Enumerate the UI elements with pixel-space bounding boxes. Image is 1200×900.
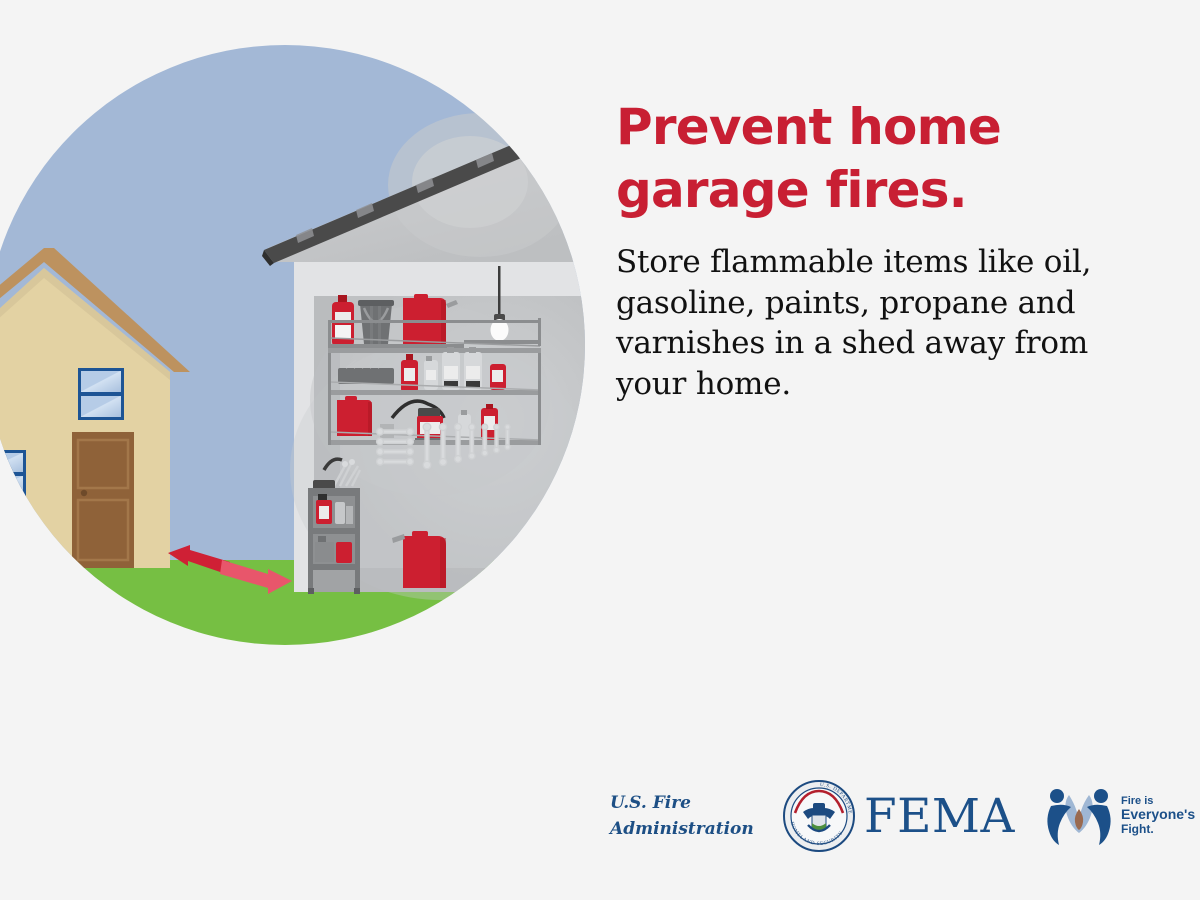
gas-can-shelf3-shade [368,402,372,436]
floor-gas-can-shade [440,538,446,588]
fire-is-everyones-fight-logo: Fire is Everyone's Fight. [1043,785,1195,847]
bucket-stripe-2 [378,306,381,344]
seal-eagle-head [813,803,825,813]
gas-can-shelf3-cap [345,396,357,401]
shelf-rail-1a [330,344,464,348]
feef-head-left [1050,789,1064,803]
cart-grey-can-neck [318,536,326,542]
cart-red-bottle-label [319,506,329,519]
garage-illustration [0,0,600,700]
solvent-bottle-2-cap [469,347,476,353]
lower-window-glass-bottom [0,476,23,495]
red-bottle-label [404,368,415,381]
solvent-bottle-1-cap [447,347,454,353]
page-subtitle: Store flammable items like oil, gasoline… [616,222,1161,404]
clear-bottle-1-label [426,370,436,380]
upper-window-glass-bottom [81,396,121,417]
floor-gas-can-body [403,536,446,588]
oil-bottle-cap [338,295,347,303]
feef-figures-icon [1043,785,1115,847]
small-red-can-label [492,370,503,382]
scene-clip-group [0,20,600,700]
cart-tool-head-2 [349,459,355,465]
cart-leg-r [354,588,360,594]
clear-bottle-1-cap [426,356,432,361]
feef-tagline: Fire is Everyone's Fight. [1121,795,1195,837]
feef-head-right [1094,789,1108,803]
cart-tool-head-1 [342,461,348,467]
shelf-post-2l [328,353,331,395]
shelf-post-2r [538,353,541,395]
cart-leg-l [308,588,314,594]
cart-red-can [336,542,352,563]
shelf-post-1l [328,322,331,350]
cart-item-cap [318,494,327,500]
feef-line-3: Fight. [1121,823,1195,837]
solvent-bottle-1-label [444,366,458,379]
page-title: Prevent home garage fires. [616,96,1161,222]
feef-line-2: Everyone's [1121,807,1195,823]
lower-window-glass-top [0,453,23,472]
cart-grey-can [315,542,334,562]
solvent-bottle-2-label [466,366,480,379]
cart-shelf-c [313,570,355,592]
cart-small-box [346,506,353,524]
tool-tray [338,368,394,384]
red-bottle-cap [406,354,413,360]
footer-logo-bar: U.S. Fire Administration U.S. DEPARTMENT… [610,770,1170,862]
oil-bottle-label-bot [335,325,351,339]
shelf-board-1 [328,348,541,353]
usfa-wordmark: U.S. Fire Administration [610,790,750,843]
floor-gas-can-cap [412,531,428,537]
clear-bottle-2-cap [461,410,467,415]
solvent-bottle-2-band [466,381,480,387]
cart-clear-bottle [335,502,345,524]
light-cord [498,266,501,318]
fema-wordmark: FEMA [864,793,1015,840]
shelf-post-3l [328,395,331,445]
gas-can-top-cap [414,294,428,300]
copy-block: Prevent home garage fires. Store flammab… [616,96,1161,404]
illustration-svg [0,0,600,700]
dhs-seal-icon: U.S. DEPARTMENT OF HOMELAND SECURITY [782,779,856,853]
shelf-board-2 [328,390,541,395]
shelf-post-3r [538,395,541,445]
upper-window-glass-top [81,371,121,392]
gas-can-shelf3 [337,400,372,436]
door-knob [81,490,87,496]
bucket-stripe-1 [370,306,373,344]
shelf-top-rail [328,320,541,323]
garage-header-band [294,262,600,296]
red-bottle-2-cap [486,404,493,409]
bucket-rim [358,300,394,306]
